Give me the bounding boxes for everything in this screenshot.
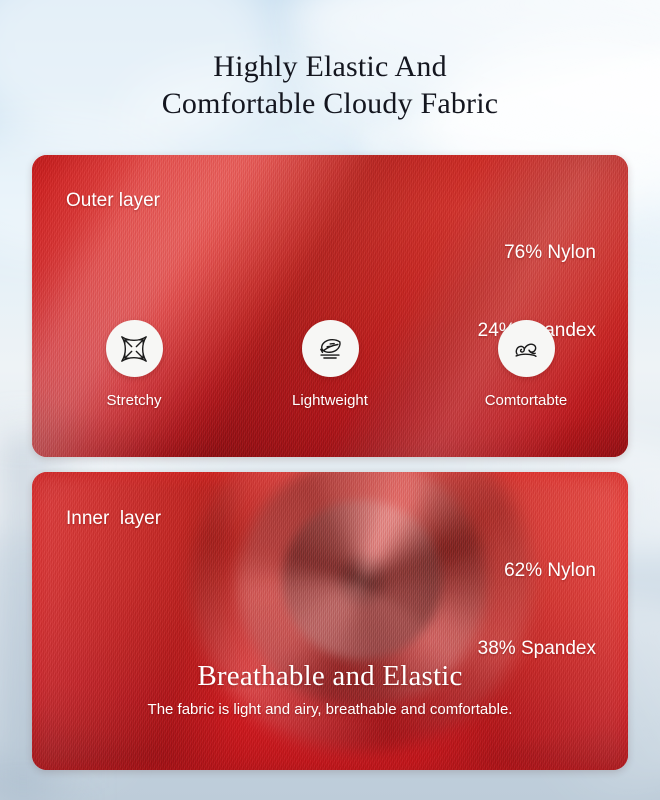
feature-badge bbox=[302, 320, 359, 377]
page-title: Highly Elastic And Comfortable Cloudy Fa… bbox=[0, 48, 660, 122]
title-line-2: Comfortable Cloudy Fabric bbox=[0, 85, 660, 122]
feature-item-lightweight: Lightweight bbox=[275, 320, 385, 409]
feather-icon bbox=[315, 334, 345, 364]
feature-item-stretchy: Stretchy bbox=[79, 320, 189, 409]
stretch-arrows-icon bbox=[119, 334, 149, 364]
caption-subtext: The fabric is light and airy, breathable… bbox=[32, 701, 628, 718]
feature-badge bbox=[498, 320, 555, 377]
feature-item-comfortable: Comtortabte bbox=[471, 320, 581, 409]
feature-label: Stretchy bbox=[106, 392, 161, 409]
feature-label: Comtortabte bbox=[485, 392, 568, 409]
outer-composition-line-1: 76% Nylon bbox=[478, 240, 596, 266]
caption-headline: Breathable and Elastic bbox=[32, 660, 628, 693]
inner-layer-label: Inner layer bbox=[66, 508, 161, 530]
feature-label: Lightweight bbox=[292, 392, 368, 409]
infographic-canvas: Highly Elastic And Comfortable Cloudy Fa… bbox=[0, 0, 660, 800]
inner-composition-line-1: 62% Nylon bbox=[478, 558, 596, 584]
feature-badge bbox=[106, 320, 163, 377]
inner-composition-line-2: 38% Spandex bbox=[478, 636, 596, 662]
feature-badge-list: Stretchy Lightweight bbox=[32, 320, 628, 409]
outer-layer-label: Outer layer bbox=[66, 190, 160, 212]
title-line-1: Highly Elastic And bbox=[0, 48, 660, 85]
inner-panel-caption: Breathable and Elastic The fabric is lig… bbox=[32, 660, 628, 718]
draping-fabric-icon bbox=[511, 334, 541, 364]
